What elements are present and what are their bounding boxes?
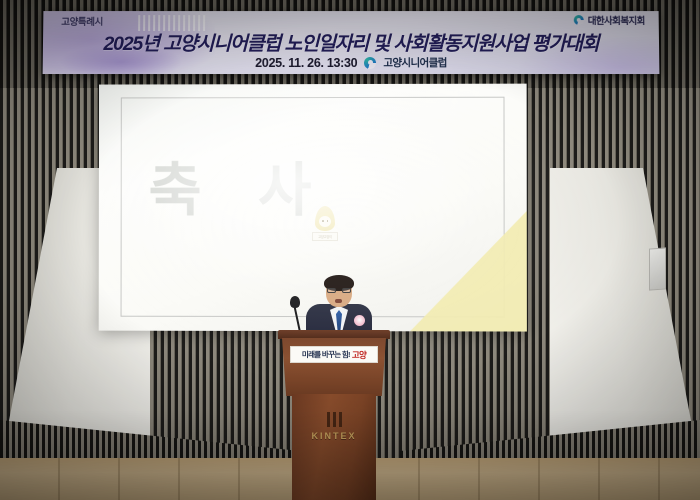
microphone-icon [286,296,308,332]
speaker-mouth [335,299,342,303]
banner-sponsor-group: 대한사회복지회 [574,13,645,27]
slide-heading-char-1: 축 [148,162,199,220]
kintex-bar-2 [333,412,336,427]
mascot-character-icon: 고양고양이 [312,206,338,246]
organizer-swirl-icon [364,56,376,68]
speaker-corsage-icon [354,315,365,326]
podium-slogan-sign: 미래를 바꾸는 힘! 고양 [290,346,378,363]
kintex-bars-icon [292,412,376,427]
banner-title: 2025년 고양시니어클럽 노인일자리 및 사회활동지원사업 평가대회 [43,27,659,56]
kintex-bar-3 [339,412,342,427]
podium-city-text: 고양 [352,349,366,361]
banner-date-time: 2025. 11. 26. 13:30 [255,55,357,69]
podium: 미래를 바꾸는 힘! 고양 KINTEX [278,330,390,500]
banner-sponsor-label: 대한사회복지회 [588,13,645,27]
event-stage-photo: 고양특례시 대한사회복지회 2025년 고양시니어클럽 노인일자리 및 사회활동… [0,0,700,500]
podium-top-surface [278,330,390,339]
mascot-eye-left [322,220,324,222]
banner-subline: 2025. 11. 26. 13:30 고양시니어클럽 [43,55,660,70]
banner-organizer-label: 고양시니어클럽 [383,55,447,70]
glasses-lens-right [342,288,351,293]
speaker-glasses-icon [327,288,351,293]
mascot-face [319,216,331,227]
microphone-capsule [290,296,300,308]
microphone-gooseneck [293,304,301,332]
speaker-person [300,277,378,337]
wall-light-panel-icon [649,247,666,290]
mascot-eye-right [326,220,328,222]
podium-body: KINTEX [292,394,376,500]
mascot-label: 고양고양이 [312,232,338,241]
podium-slogan-text: 미래를 바꾸는 힘! [302,349,350,360]
sponsor-swirl-icon [574,15,584,25]
event-banner: 고양특례시 대한사회복지회 2025년 고양시니어클럽 노인일자리 및 사회활동… [43,11,660,74]
glasses-lens-left [327,288,336,293]
banner-city-label: 고양특례시 [61,14,103,28]
venue-logo-text: KINTEX [292,431,376,441]
slide-heading-char-2: 사 [258,162,309,220]
venue-logo: KINTEX [292,412,376,441]
kintex-bar-1 [327,412,330,427]
